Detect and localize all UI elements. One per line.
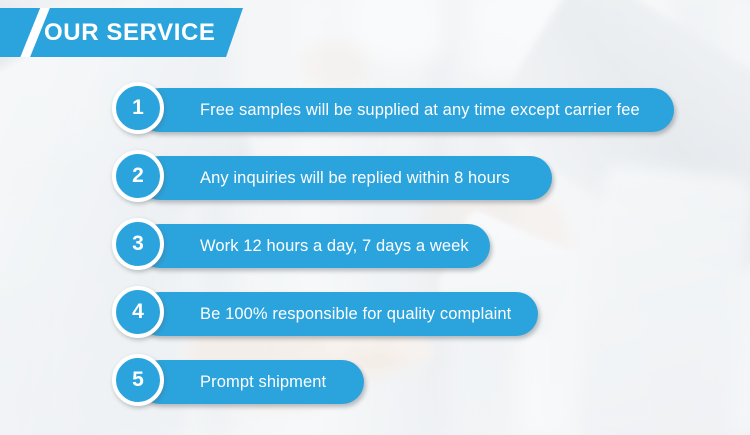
service-bar: Free samples will be supplied at any tim… xyxy=(138,88,674,132)
service-bar: Any inquiries will be replied within 8 h… xyxy=(138,156,552,200)
service-bar: Work 12 hours a day, 7 days a week xyxy=(138,224,490,268)
service-bar: Be 100% responsible for quality complain… xyxy=(138,292,538,336)
service-text: Work 12 hours a day, 7 days a week xyxy=(138,237,495,256)
service-poster: OUR SERVICE Free samples will be supplie… xyxy=(0,0,750,435)
service-number-badge: 4 xyxy=(112,286,164,338)
service-number-badge: 1 xyxy=(112,82,164,134)
service-bar: Prompt shipment xyxy=(138,360,364,404)
service-number-badge: 2 xyxy=(112,150,164,202)
service-list: Free samples will be supplied at any tim… xyxy=(0,0,750,435)
service-text: Any inquiries will be replied within 8 h… xyxy=(138,169,536,188)
service-text: Be 100% responsible for quality complain… xyxy=(138,305,537,324)
service-text: Free samples will be supplied at any tim… xyxy=(138,101,666,120)
service-text: Prompt shipment xyxy=(138,373,352,392)
service-number-badge: 3 xyxy=(112,218,164,270)
service-number-badge: 5 xyxy=(112,354,164,406)
